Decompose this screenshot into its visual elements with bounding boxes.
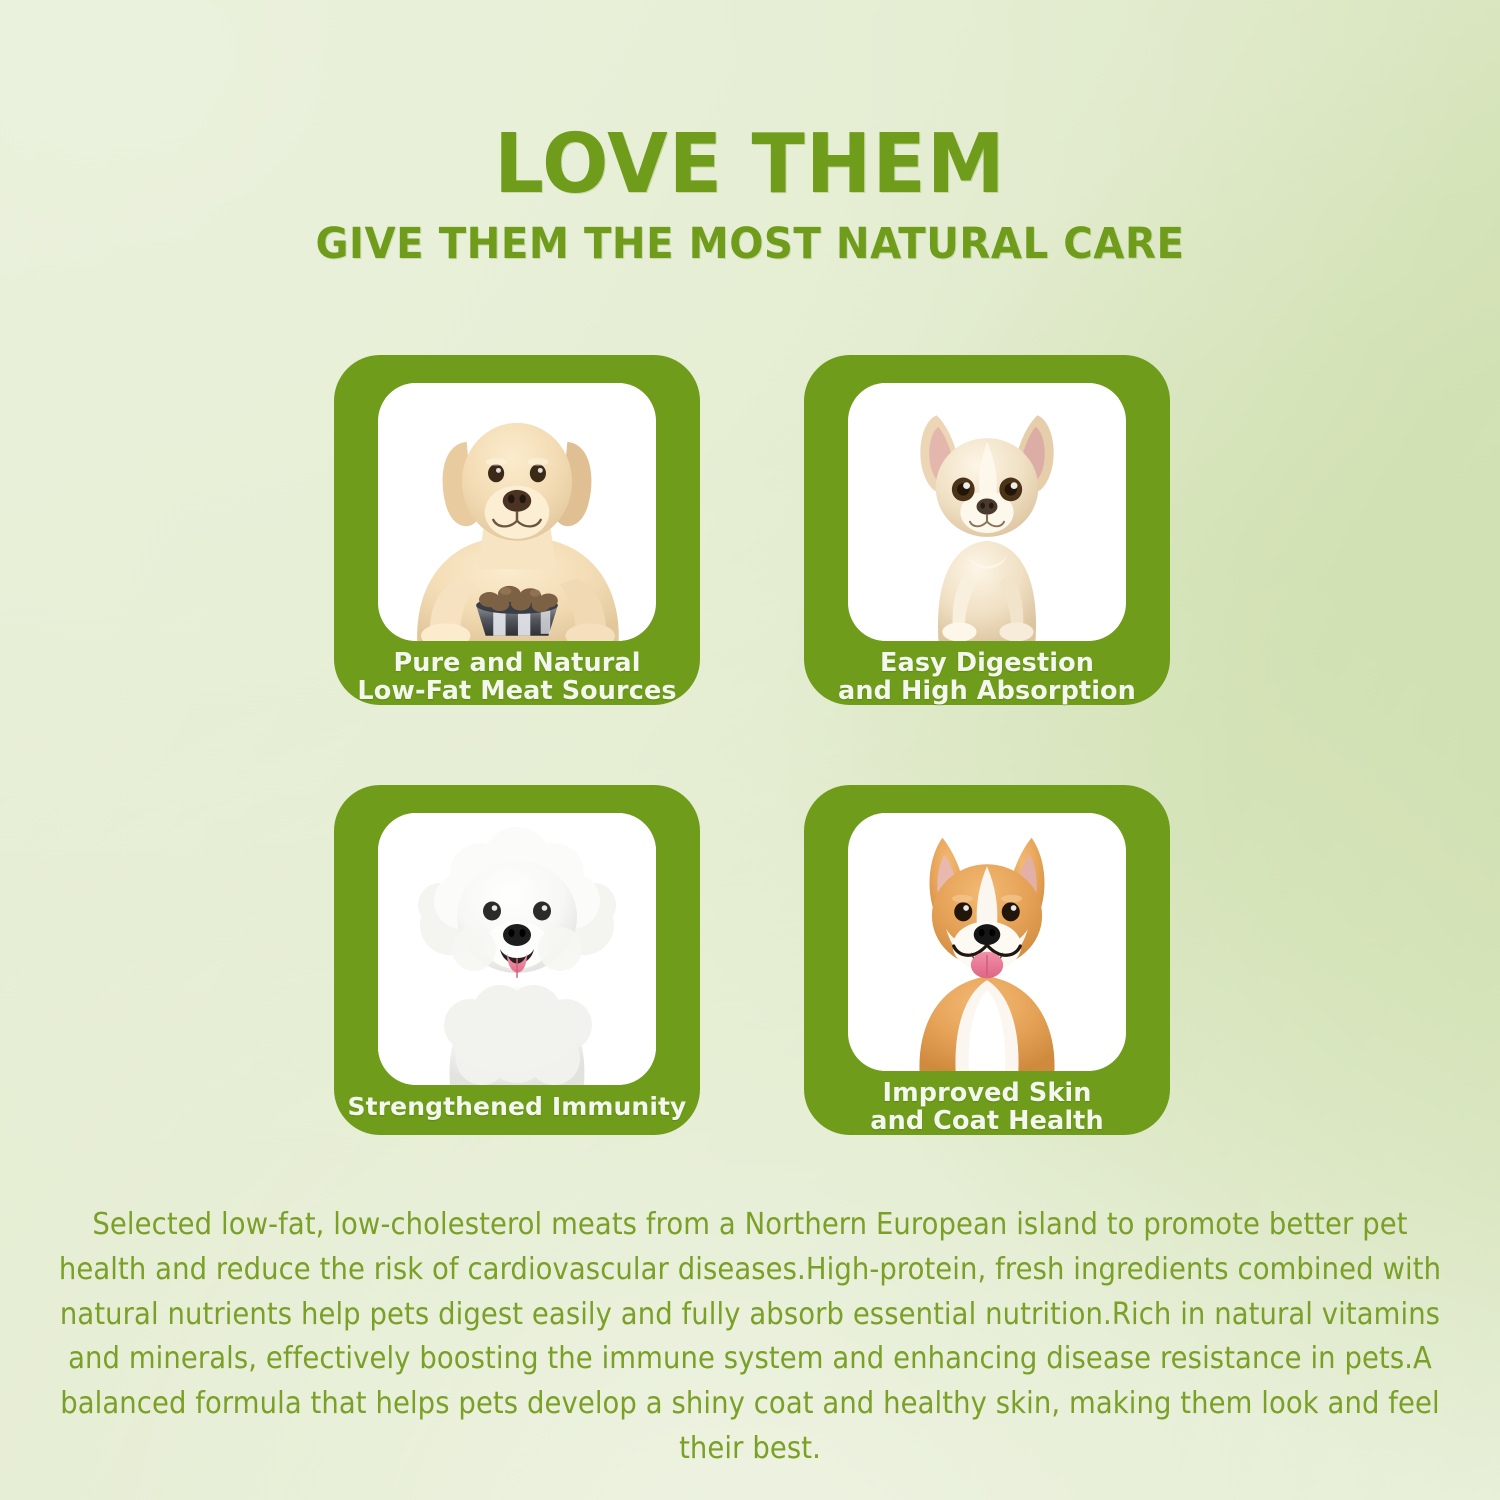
benefit-card-improved-skin-and-coat-health[interactable]: Improved Skin and Coat Health bbox=[804, 785, 1170, 1135]
benefit-card-grid: Pure and Natural Low-Fat Meat Sources bbox=[334, 355, 1170, 1155]
card-photo-panel bbox=[378, 383, 656, 641]
poster-canvas: LOVE THEM GIVE THEM THE MOST NATURAL CAR… bbox=[0, 0, 1500, 1500]
card-label: Improved Skin and Coat Health bbox=[870, 1080, 1103, 1135]
footer-description: Selected low-fat, low-cholesterol meats … bbox=[50, 1203, 1450, 1472]
benefit-card-pure-and-natural-low-fat-meat-sources[interactable]: Pure and Natural Low-Fat Meat Sources bbox=[334, 355, 700, 705]
bichon-frise-dog-photo bbox=[378, 813, 656, 1085]
page-subtitle: GIVE THEM THE MOST NATURAL CARE bbox=[0, 205, 1500, 266]
card-photo-panel bbox=[848, 383, 1126, 641]
card-photo-panel bbox=[378, 813, 656, 1085]
labrador-puppy-with-food-bowl-photo bbox=[378, 383, 656, 641]
chihuahua-puppy-photo bbox=[848, 383, 1126, 641]
header: LOVE THEM GIVE THEM THE MOST NATURAL CAR… bbox=[0, 0, 1500, 266]
corgi-dog-photo bbox=[848, 813, 1126, 1071]
card-label: Easy Digestion and High Absorption bbox=[838, 650, 1136, 705]
benefit-card-strengthened-immunity[interactable]: Strengthened Immunity bbox=[334, 785, 700, 1135]
card-label: Pure and Natural Low-Fat Meat Sources bbox=[357, 650, 676, 705]
page-title: LOVE THEM bbox=[0, 0, 1500, 205]
benefit-card-easy-digestion-and-high-absorption[interactable]: Easy Digestion and High Absorption bbox=[804, 355, 1170, 705]
card-photo-panel bbox=[848, 813, 1126, 1071]
card-label: Strengthened Immunity bbox=[348, 1094, 687, 1121]
